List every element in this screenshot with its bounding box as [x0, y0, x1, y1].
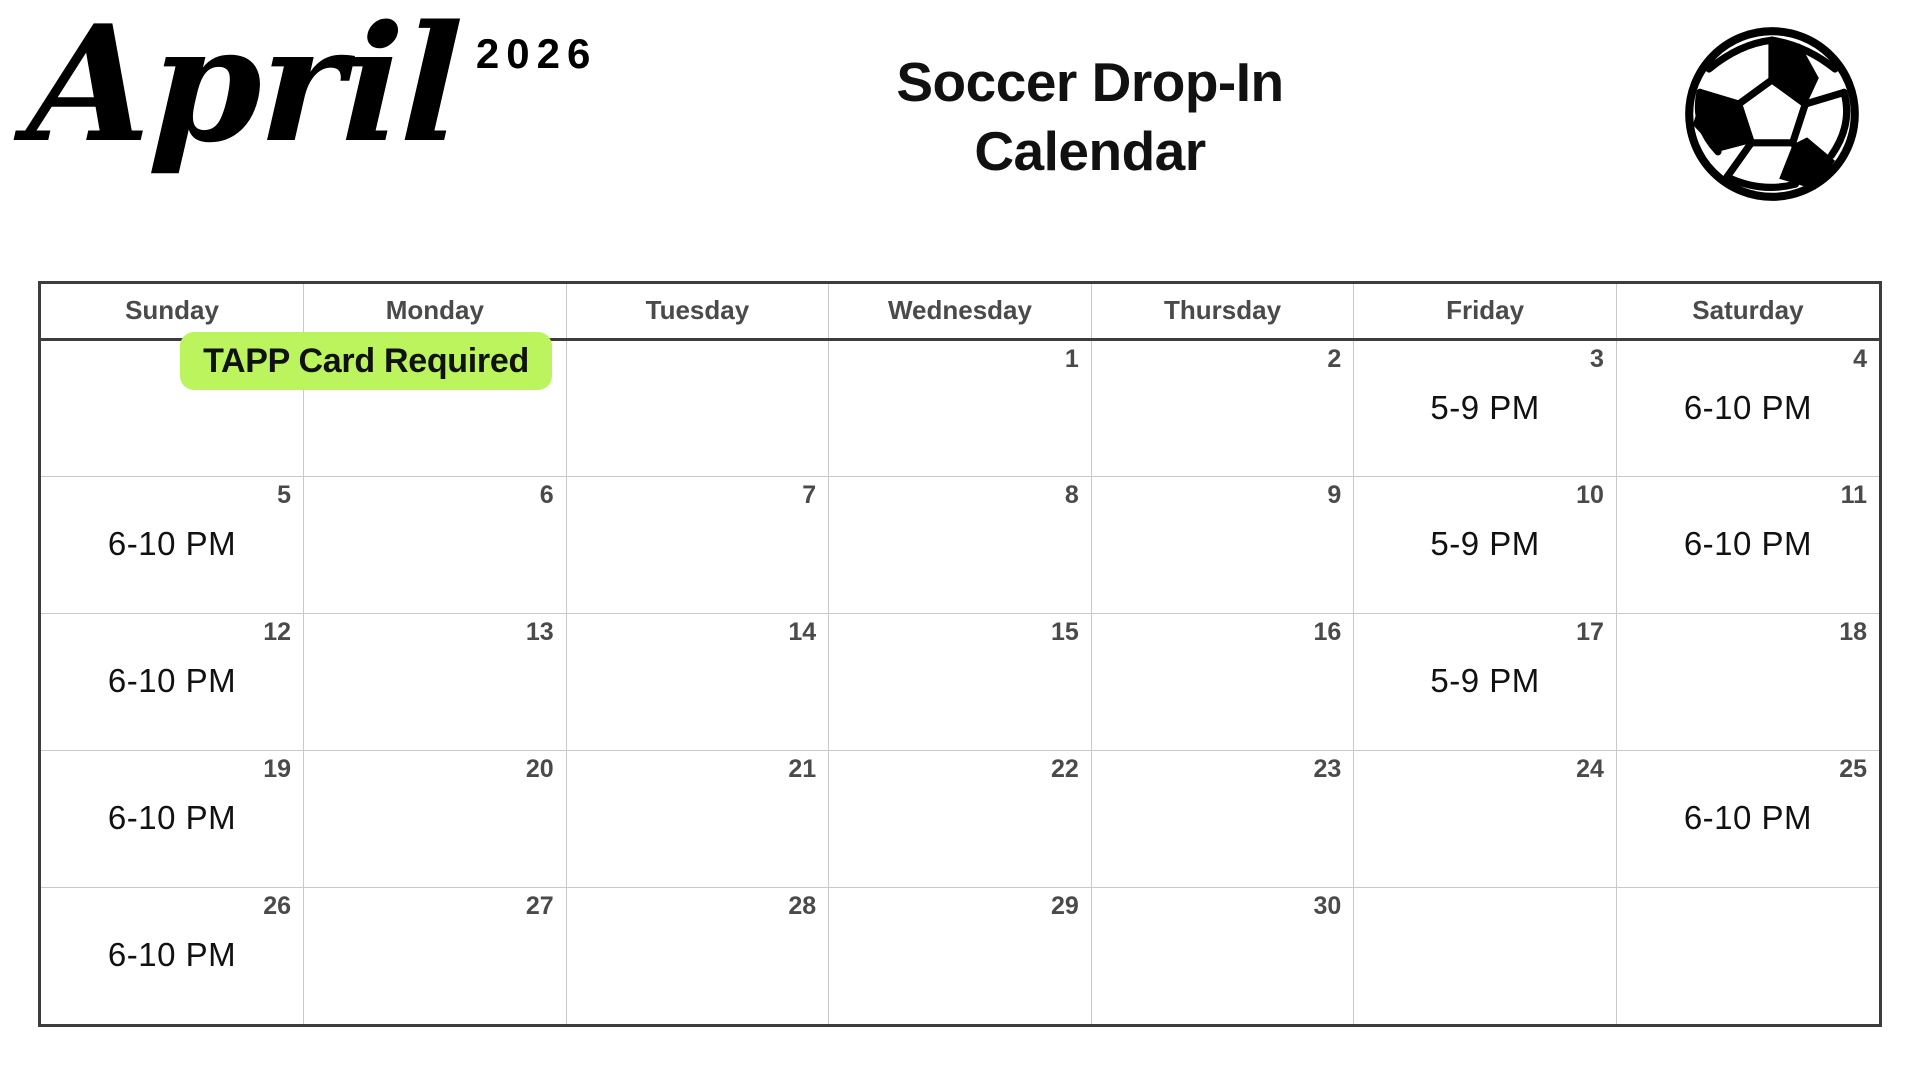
day-number: 1: [1065, 347, 1079, 372]
calendar-day-cell[interactable]: 13: [304, 613, 567, 750]
calendar-day-cell[interactable]: 14: [566, 613, 829, 750]
weekday-header-friday: Friday: [1354, 284, 1617, 339]
day-number: 3: [1590, 347, 1604, 372]
calendar-day-cell[interactable]: 18: [1616, 613, 1879, 750]
day-number: 13: [526, 620, 554, 645]
drop-in-time-slot: 6-10 PM: [1617, 525, 1879, 563]
calendar-day-cell[interactable]: 8: [829, 476, 1092, 613]
drop-in-time-slot: 6-10 PM: [41, 799, 303, 837]
calendar-day-cell[interactable]: 20: [304, 750, 567, 887]
weekday-header-tuesday: Tuesday: [566, 284, 829, 339]
calendar-day-cell[interactable]: 23: [1091, 750, 1354, 887]
day-number: 5: [277, 483, 291, 508]
day-number: 17: [1576, 620, 1604, 645]
weekday-header-sunday: Sunday: [41, 284, 304, 339]
drop-in-time-slot: 6-10 PM: [41, 936, 303, 974]
day-number: 15: [1051, 620, 1079, 645]
drop-in-time-slot: 5-9 PM: [1354, 389, 1616, 427]
day-number: 28: [788, 894, 816, 919]
page-title: Soccer Drop-In Calendar: [740, 48, 1440, 186]
day-number: 23: [1314, 757, 1342, 782]
drop-in-time-slot: 6-10 PM: [41, 662, 303, 700]
day-number: 10: [1576, 483, 1604, 508]
calendar-day-cell[interactable]: 196-10 PM: [41, 750, 304, 887]
calendar-grid: Sunday Monday Tuesday Wednesday Thursday…: [38, 281, 1882, 1027]
day-number: 22: [1051, 757, 1079, 782]
tapp-card-required-banner: TAPP Card Required: [180, 332, 552, 390]
soccer-ball-icon: [1682, 24, 1862, 204]
calendar-day-cell[interactable]: 16: [1091, 613, 1354, 750]
day-number: 20: [526, 757, 554, 782]
day-number: 7: [802, 483, 816, 508]
tapp-card-required-label: TAPP Card Required: [203, 342, 529, 381]
day-number: 27: [526, 894, 554, 919]
calendar-day-cell[interactable]: 56-10 PM: [41, 476, 304, 613]
calendar-week-row: 196-10 PM2021222324256-10 PM: [41, 750, 1879, 887]
calendar-day-cell[interactable]: 175-9 PM: [1354, 613, 1617, 750]
calendar-day-cell[interactable]: 28: [566, 887, 829, 1024]
day-number: 18: [1839, 620, 1867, 645]
month-year-group: April 2026: [28, 8, 597, 160]
calendar-day-cell[interactable]: 15: [829, 613, 1092, 750]
calendar-day-cell[interactable]: 29: [829, 887, 1092, 1024]
calendar-day-cell[interactable]: 27: [304, 887, 567, 1024]
calendar-day-cell[interactable]: 30: [1091, 887, 1354, 1024]
day-number: 26: [263, 894, 291, 919]
calendar-day-cell[interactable]: 105-9 PM: [1354, 476, 1617, 613]
weekday-header-monday: Monday: [304, 284, 567, 339]
calendar-day-cell[interactable]: 7: [566, 476, 829, 613]
day-number: 4: [1853, 347, 1867, 372]
weekday-header-thursday: Thursday: [1091, 284, 1354, 339]
drop-in-time-slot: 5-9 PM: [1354, 662, 1616, 700]
page-title-line-1: Soccer Drop-In: [740, 48, 1440, 117]
drop-in-time-slot: 6-10 PM: [41, 525, 303, 563]
day-number: 6: [540, 483, 554, 508]
calendar-day-cell[interactable]: [1354, 887, 1617, 1024]
calendar-day-cell[interactable]: 22: [829, 750, 1092, 887]
day-number: 12: [263, 620, 291, 645]
calendar-day-cell[interactable]: 1: [829, 339, 1092, 476]
calendar-day-cell[interactable]: [1616, 887, 1879, 1024]
day-number: 16: [1314, 620, 1342, 645]
calendar-day-cell[interactable]: 126-10 PM: [41, 613, 304, 750]
day-number: 30: [1314, 894, 1342, 919]
year-label: 2026: [476, 30, 597, 78]
weekday-header-row: Sunday Monday Tuesday Wednesday Thursday…: [41, 284, 1879, 339]
day-number: 25: [1839, 757, 1867, 782]
calendar-table: Sunday Monday Tuesday Wednesday Thursday…: [41, 284, 1879, 1024]
day-number: 9: [1327, 483, 1341, 508]
month-title: April: [25, 8, 462, 160]
calendar-week-row: 126-10 PM13141516175-9 PM18: [41, 613, 1879, 750]
weekday-header-wednesday: Wednesday: [829, 284, 1092, 339]
page-header: April 2026 Soccer Drop-In Calendar: [0, 0, 1920, 268]
drop-in-time-slot: 5-9 PM: [1354, 525, 1616, 563]
drop-in-time-slot: 6-10 PM: [1617, 799, 1879, 837]
calendar-day-cell[interactable]: 35-9 PM: [1354, 339, 1617, 476]
calendar-day-cell[interactable]: 116-10 PM: [1616, 476, 1879, 613]
calendar-day-cell[interactable]: 6: [304, 476, 567, 613]
day-number: 24: [1576, 757, 1604, 782]
day-number: 8: [1065, 483, 1079, 508]
calendar-day-cell[interactable]: 46-10 PM: [1616, 339, 1879, 476]
calendar-day-cell[interactable]: 266-10 PM: [41, 887, 304, 1024]
page-title-line-2: Calendar: [740, 117, 1440, 186]
day-number: 14: [788, 620, 816, 645]
weekday-header-saturday: Saturday: [1616, 284, 1879, 339]
calendar-day-cell[interactable]: 24: [1354, 750, 1617, 887]
day-number: 11: [1841, 483, 1867, 508]
calendar-day-cell[interactable]: 256-10 PM: [1616, 750, 1879, 887]
calendar-day-cell[interactable]: [566, 339, 829, 476]
day-number: 29: [1051, 894, 1079, 919]
calendar-body: 1235-9 PM46-10 PM56-10 PM6789105-9 PM116…: [41, 339, 1879, 1024]
calendar-page: April 2026 Soccer Drop-In Calendar: [0, 0, 1920, 1080]
calendar-day-cell[interactable]: 2: [1091, 339, 1354, 476]
calendar-week-row: 266-10 PM27282930: [41, 887, 1879, 1024]
drop-in-time-slot: 6-10 PM: [1617, 389, 1879, 427]
day-number: 21: [788, 757, 816, 782]
calendar-week-row: 56-10 PM6789105-9 PM116-10 PM: [41, 476, 1879, 613]
calendar-day-cell[interactable]: 21: [566, 750, 829, 887]
calendar-day-cell[interactable]: 9: [1091, 476, 1354, 613]
day-number: 19: [263, 757, 291, 782]
day-number: 2: [1327, 347, 1341, 372]
